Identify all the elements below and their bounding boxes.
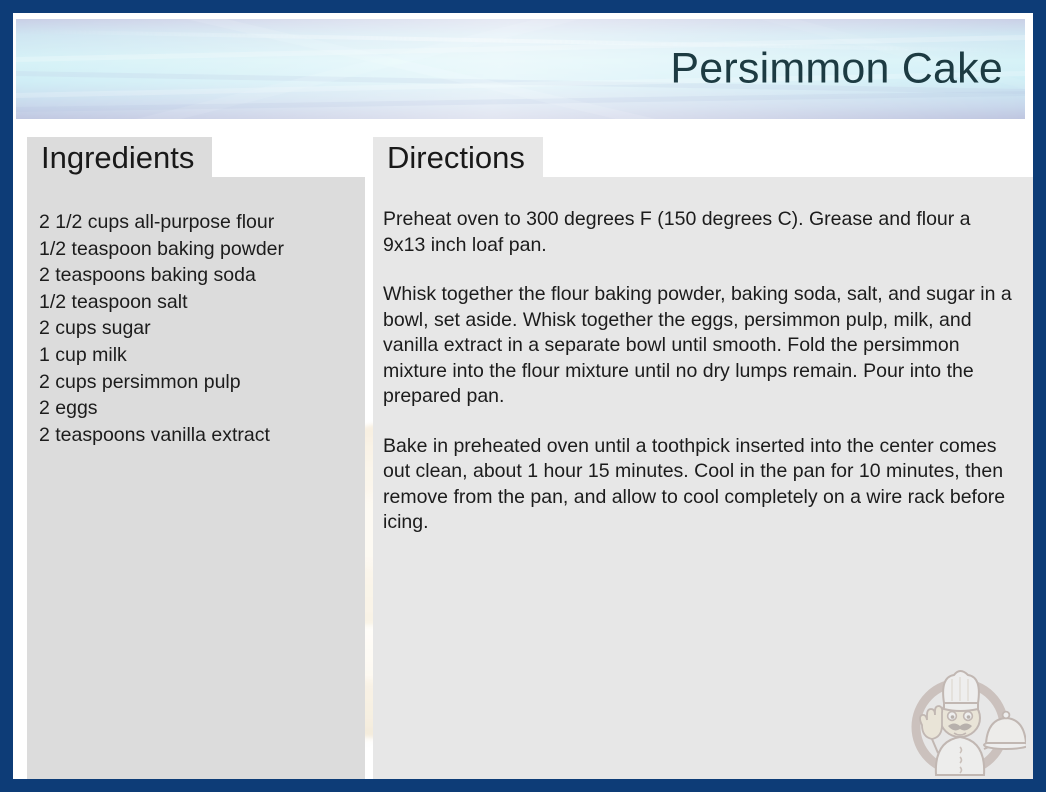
directions-paragraph: Bake in preheated oven until a toothpick… xyxy=(383,434,1015,536)
list-item: 1/2 teaspoon baking powder xyxy=(39,236,365,263)
directions-heading: Directions xyxy=(373,137,543,182)
list-item: 2 teaspoons baking soda xyxy=(39,262,365,289)
ingredients-panel: 2 1/2 cups all-purpose flour 1/2 teaspoo… xyxy=(27,177,365,779)
list-item: 2 1/2 cups all-purpose flour xyxy=(39,209,365,236)
ingredients-column: Ingredients xyxy=(27,137,365,182)
list-item: 2 teaspoons vanilla extract xyxy=(39,422,365,449)
ingredients-list: 2 1/2 cups all-purpose flour 1/2 teaspoo… xyxy=(39,209,365,448)
directions-column: Directions xyxy=(373,137,1033,182)
list-item: 2 eggs xyxy=(39,395,365,422)
title-banner: Persimmon Cake xyxy=(16,19,1025,119)
page-title: Persimmon Cake xyxy=(670,45,1003,94)
card-canvas: Persimmon Cake xyxy=(13,13,1033,779)
ingredients-heading: Ingredients xyxy=(27,137,212,182)
directions-body: Preheat oven to 300 degrees F (150 degre… xyxy=(383,207,1015,536)
list-item: 2 cups persimmon pulp xyxy=(39,369,365,396)
list-item: 1/2 teaspoon salt xyxy=(39,289,365,316)
directions-paragraph: Preheat oven to 300 degrees F (150 degre… xyxy=(383,207,1015,258)
recipe-card: Persimmon Cake xyxy=(0,0,1046,792)
directions-paragraph: Whisk together the flour baking powder, … xyxy=(383,282,1015,410)
directions-panel: Preheat oven to 300 degrees F (150 degre… xyxy=(373,177,1033,779)
list-item: 2 cups sugar xyxy=(39,315,365,342)
list-item: 1 cup milk xyxy=(39,342,365,369)
